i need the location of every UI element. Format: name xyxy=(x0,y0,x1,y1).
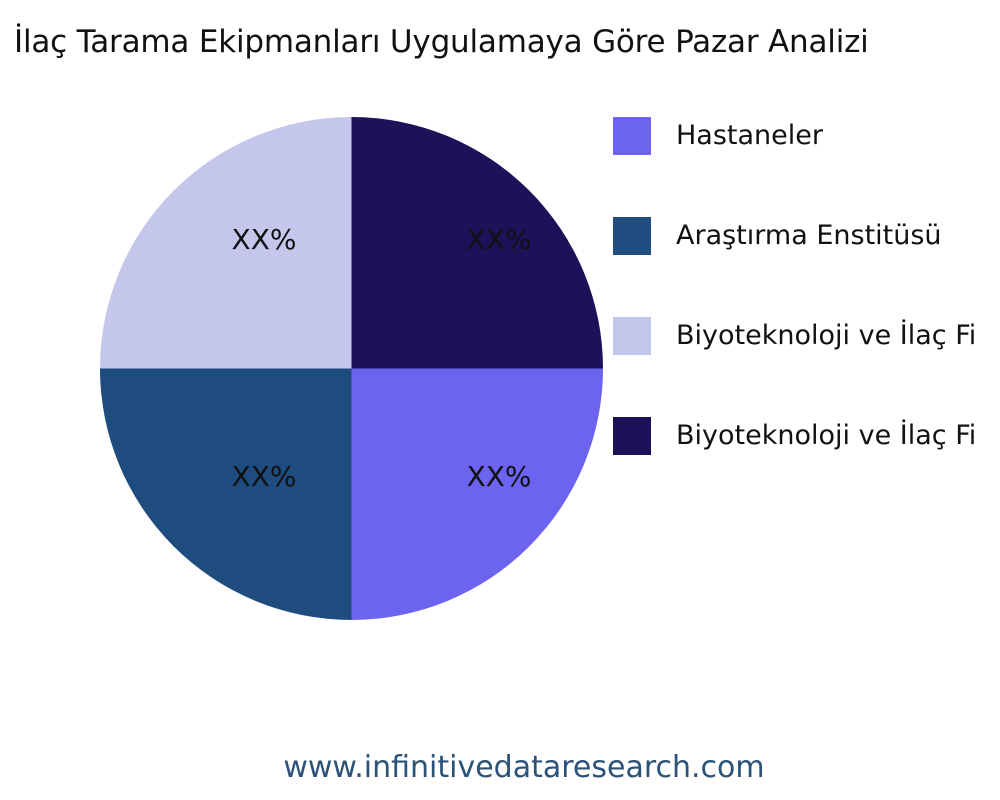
pie-slice-top-left[interactable] xyxy=(100,117,352,369)
legend: Hastaneler Araştırma Enstitüsü Biyotekno… xyxy=(613,117,1000,455)
pie-slice-label-top-left: XX% xyxy=(232,223,297,256)
legend-item-label: Araştırma Enstitüsü xyxy=(676,217,942,255)
legend-item-hastaneler[interactable]: Hastaneler xyxy=(613,117,1000,155)
legend-item-arastirma-enstitusu[interactable]: Araştırma Enstitüsü xyxy=(613,217,1000,255)
footer-url-text: www.infinitivedataresearch.com xyxy=(235,750,764,785)
legend-item-label: Biyoteknoloji ve İlaç Fi xyxy=(676,417,976,455)
legend-item-label: Hastaneler xyxy=(676,117,823,155)
legend-item-label: Biyoteknoloji ve İlaç Fi xyxy=(676,317,976,355)
chart-page: İlaç Tarama Ekipmanları Uygulamaya Göre … xyxy=(0,0,1000,800)
legend-item-biyoteknoloji-dark[interactable]: Biyoteknoloji ve İlaç Fi xyxy=(613,417,1000,455)
pie-chart-svg: XX% XX% XX% XX% xyxy=(100,117,603,620)
legend-swatch-icon xyxy=(613,117,651,155)
pie-slice-label-top-right: XX% xyxy=(467,223,532,256)
pie-slice-bottom-right[interactable] xyxy=(352,369,604,621)
pie-chart: XX% XX% XX% XX% xyxy=(100,117,603,620)
page-title: İlaç Tarama Ekipmanları Uygulamaya Göre … xyxy=(14,22,1000,62)
legend-item-biyoteknoloji-light[interactable]: Biyoteknoloji ve İlaç Fi xyxy=(613,317,1000,355)
legend-swatch-icon xyxy=(613,417,651,455)
pie-slice-label-bottom-left: XX% xyxy=(232,460,297,493)
pie-slice-label-bottom-right: XX% xyxy=(467,460,532,493)
legend-swatch-icon xyxy=(613,217,651,255)
legend-swatch-icon xyxy=(613,317,651,355)
footer-url[interactable]: www.infinitivedataresearch.com xyxy=(0,748,1000,788)
pie-slice-bottom-left[interactable] xyxy=(100,369,352,621)
